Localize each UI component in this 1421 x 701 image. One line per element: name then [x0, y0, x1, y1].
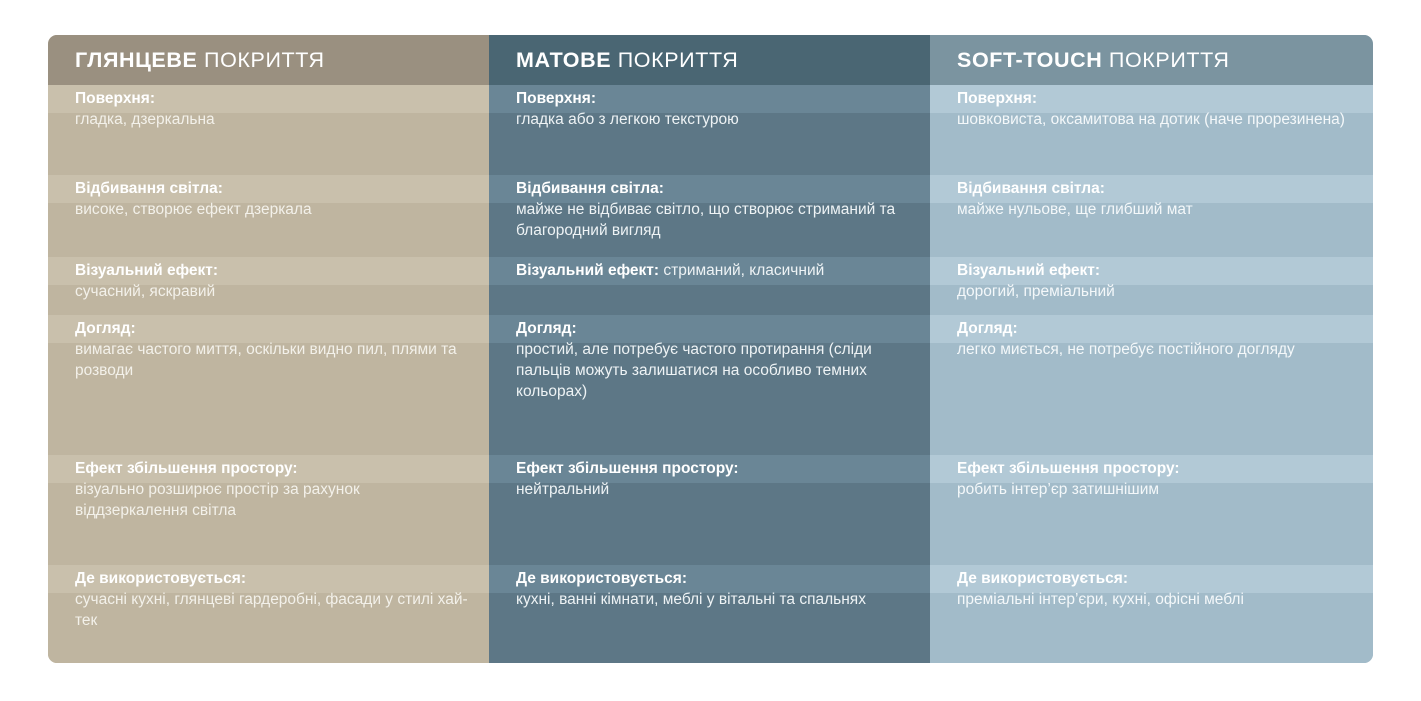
row-text: Ефект збільшення простору:нейтральний — [516, 458, 912, 500]
row-key: Догляд: — [75, 320, 136, 337]
table-row: Візуальний ефект: стриманий, класичний — [489, 257, 930, 315]
row-key: Ефект збільшення простору: — [957, 460, 1180, 477]
row-key: Поверхня: — [516, 90, 596, 107]
table-row: Догляд:легко миється, не потребує постій… — [930, 315, 1373, 455]
row-text: Поверхня:гладка або з легкою текстурою — [516, 88, 912, 130]
row-key: Візуальний ефект: — [957, 262, 1100, 279]
row-value: гладка або з легкою текстурою — [516, 109, 912, 130]
column-soft-touch: SOFT-TOUCH ПОКРИТТЯПоверхня:шовковиста, … — [930, 35, 1373, 663]
row-value: робить інтер’єр затишнішим — [957, 479, 1355, 500]
row-value: преміальні інтер’єри, кухні, офісні мебл… — [957, 589, 1355, 610]
table-row: Ефект збільшення простору:нейтральний — [489, 455, 930, 565]
row-text: Де використовується:кухні, ванні кімнати… — [516, 568, 912, 610]
row-text: Де використовується:преміальні інтер’єри… — [957, 568, 1355, 610]
row-value: високе, створює ефект дзеркала — [75, 199, 471, 220]
row-key: Ефект збільшення простору: — [75, 460, 298, 477]
row-key: Поверхня: — [75, 90, 155, 107]
column-sections-glossy: Поверхня:гладка, дзеркальнаВідбивання св… — [48, 85, 489, 663]
row-text: Ефект збільшення простору:робить інтер’є… — [957, 458, 1355, 500]
row-value: шовковиста, оксамитова на дотик (наче пр… — [957, 109, 1355, 130]
row-value: сучасний, яскравий — [75, 281, 471, 302]
table-row: Ефект збільшення простору:робить інтер’є… — [930, 455, 1373, 565]
row-key: Ефект збільшення простору: — [516, 460, 739, 477]
row-key: Догляд: — [957, 320, 1018, 337]
table-row: Ефект збільшення простору:візуально розш… — [48, 455, 489, 565]
row-text: Відбивання світла:майже не відбиває світ… — [516, 178, 912, 241]
row-value: дорогий, преміальний — [957, 281, 1355, 302]
table-row: Відбивання світла:майже нульове, ще глиб… — [930, 175, 1373, 257]
row-value: стриманий, класичний — [659, 262, 824, 279]
row-text: Догляд:вимагає частого миття, оскільки в… — [75, 318, 471, 381]
table-row: Візуальний ефект:дорогий, преміальний — [930, 257, 1373, 315]
table-row: Візуальний ефект:сучасний, яскравий — [48, 257, 489, 315]
row-text: Догляд:легко миється, не потребує постій… — [957, 318, 1355, 360]
table-row: Де використовується:преміальні інтер’єри… — [930, 565, 1373, 663]
row-key: Де використовується: — [75, 570, 246, 587]
row-key: Відбивання світла: — [957, 180, 1105, 197]
column-title-rest: ПОКРИТТЯ — [197, 48, 324, 72]
column-matte: МАТОВЕ ПОКРИТТЯПоверхня:гладка або з лег… — [489, 35, 930, 663]
row-value: вимагає частого миття, оскільки видно пи… — [75, 339, 471, 381]
column-title-rest: ПОКРИТТЯ — [611, 48, 738, 72]
table-row: Догляд:простий, але потребує частого про… — [489, 315, 930, 455]
row-body-band — [489, 285, 930, 315]
table-row: Де використовується:кухні, ванні кімнати… — [489, 565, 930, 663]
column-header-glossy: ГЛЯНЦЕВЕ ПОКРИТТЯ — [48, 35, 489, 85]
row-key: Візуальний ефект: — [75, 262, 218, 279]
row-key: Де використовується: — [957, 570, 1128, 587]
row-text: Де використовується:сучасні кухні, глянц… — [75, 568, 471, 631]
row-text: Поверхня:гладка, дзеркальна — [75, 88, 471, 130]
table-row: Відбивання світла:майже не відбиває світ… — [489, 175, 930, 257]
table-row: Де використовується:сучасні кухні, глянц… — [48, 565, 489, 663]
row-value: простий, але потребує частого протирання… — [516, 339, 912, 402]
row-value: майже не відбиває світло, що створює стр… — [516, 199, 912, 241]
row-value: кухні, ванні кімнати, меблі у вітальні т… — [516, 589, 912, 610]
row-key: Візуальний ефект: — [516, 262, 659, 279]
row-text: Відбивання світла:майже нульове, ще глиб… — [957, 178, 1355, 220]
row-text: Візуальний ефект: стриманий, класичний — [516, 260, 912, 281]
row-text: Візуальний ефект:дорогий, преміальний — [957, 260, 1355, 302]
row-text: Догляд:простий, але потребує частого про… — [516, 318, 912, 402]
row-text: Відбивання світла:високе, створює ефект … — [75, 178, 471, 220]
row-value: сучасні кухні, глянцеві гардеробні, фаса… — [75, 589, 471, 631]
row-value: майже нульове, ще глибший мат — [957, 199, 1355, 220]
column-title-strong: SOFT-TOUCH — [957, 48, 1102, 72]
row-key: Відбивання світла: — [516, 180, 664, 197]
table-row: Поверхня:гладка або з легкою текстурою — [489, 85, 930, 175]
column-title-strong: ГЛЯНЦЕВЕ — [75, 48, 197, 72]
row-key: Відбивання світла: — [75, 180, 223, 197]
row-value: гладка, дзеркальна — [75, 109, 471, 130]
column-sections-soft-touch: Поверхня:шовковиста, оксамитова на дотик… — [930, 85, 1373, 663]
table-row: Поверхня:шовковиста, оксамитова на дотик… — [930, 85, 1373, 175]
table-row: Поверхня:гладка, дзеркальна — [48, 85, 489, 175]
column-glossy: ГЛЯНЦЕВЕ ПОКРИТТЯПоверхня:гладка, дзерка… — [48, 35, 489, 663]
column-title-glossy: ГЛЯНЦЕВЕ ПОКРИТТЯ — [75, 48, 325, 73]
row-value: візуально розширює простір за рахунок ві… — [75, 479, 471, 521]
row-key: Поверхня: — [957, 90, 1037, 107]
row-value: легко миється, не потребує постійного до… — [957, 339, 1355, 360]
row-text: Ефект збільшення простору:візуально розш… — [75, 458, 471, 521]
column-title-soft-touch: SOFT-TOUCH ПОКРИТТЯ — [957, 48, 1230, 73]
column-sections-matte: Поверхня:гладка або з легкою текстуроюВі… — [489, 85, 930, 663]
row-key: Де використовується: — [516, 570, 687, 587]
table-row: Догляд:вимагає частого миття, оскільки в… — [48, 315, 489, 455]
column-title-rest: ПОКРИТТЯ — [1102, 48, 1229, 72]
row-text: Поверхня:шовковиста, оксамитова на дотик… — [957, 88, 1355, 130]
column-header-soft-touch: SOFT-TOUCH ПОКРИТТЯ — [930, 35, 1373, 85]
row-key: Догляд: — [516, 320, 577, 337]
column-title-matte: МАТОВЕ ПОКРИТТЯ — [516, 48, 738, 73]
column-header-matte: МАТОВЕ ПОКРИТТЯ — [489, 35, 930, 85]
column-title-strong: МАТОВЕ — [516, 48, 611, 72]
table-row: Відбивання світла:високе, створює ефект … — [48, 175, 489, 257]
row-text: Візуальний ефект:сучасний, яскравий — [75, 260, 471, 302]
comparison-table: ГЛЯНЦЕВЕ ПОКРИТТЯПоверхня:гладка, дзерка… — [48, 35, 1373, 663]
row-value: нейтральний — [516, 479, 912, 500]
